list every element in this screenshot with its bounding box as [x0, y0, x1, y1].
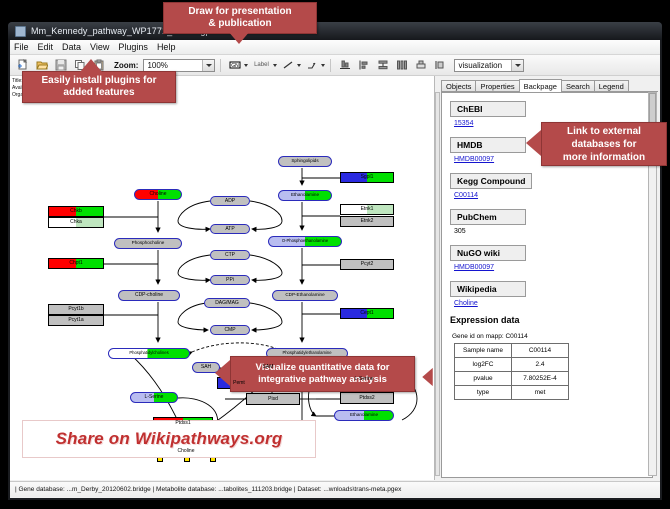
tab-search[interactable]: Search — [561, 80, 595, 91]
menu-data[interactable]: Data — [62, 42, 81, 52]
node-label: SAH — [201, 365, 211, 370]
tab-properties[interactable]: Properties — [475, 80, 519, 91]
visualization-value: visualization — [458, 61, 502, 70]
interaction-dropdown[interactable] — [303, 57, 325, 74]
visualization-combobox[interactable]: visualization — [454, 59, 524, 72]
callout-plugins-line2: added features — [41, 87, 156, 99]
node-label: SAM — [263, 365, 274, 370]
callout-draw-line1: Draw for presentation — [188, 6, 291, 18]
expr-value-type: met — [512, 386, 569, 400]
zoom-combobox[interactable]: 100% — [143, 59, 215, 72]
db-link-kegg[interactable]: C00114 — [454, 192, 652, 199]
node-label: ADP — [225, 199, 235, 204]
metabolite-node-phosphatidylcholines[interactable]: Phosphatidylcholines — [108, 348, 190, 359]
menu-view[interactable]: View — [90, 42, 109, 52]
table-row: pvalue 7.80252E-4 — [455, 372, 569, 386]
app-icon — [15, 26, 26, 37]
node-label: Etnk1 — [361, 207, 374, 212]
screenshot-root: Mm_Kennedy_pathway_WP1771_45176.gpml Fil… — [0, 0, 670, 509]
node-label: CTP — [225, 253, 235, 258]
menu-help[interactable]: Help — [157, 42, 176, 52]
callout-plugins-arrow — [80, 59, 102, 72]
distribute-horizontal-icon[interactable] — [393, 57, 410, 74]
chevron-down-icon[interactable] — [244, 64, 248, 67]
node-label: O-Phosphoethanolamine — [282, 239, 328, 243]
db-link-wikipedia[interactable]: Choline — [454, 300, 652, 307]
gene-node-etnk1[interactable]: Etnk1 — [340, 204, 394, 215]
label-dropdown[interactable]: Label — [250, 57, 277, 74]
node-label: Phosphocholine — [132, 241, 165, 246]
callout-links-line1: Link to external — [563, 125, 645, 138]
node-label: Pcyt1b — [68, 307, 83, 312]
status-text: | Gene database: ...m_Derby_20120602.bri… — [15, 486, 401, 493]
node-label: Etnk2 — [361, 219, 374, 224]
node-label: Pcyt1a — [68, 318, 83, 323]
node-label: Phosphatidylethanolamine — [282, 351, 331, 355]
expr-label-sample: Sample name — [455, 344, 512, 358]
align-left-icon[interactable] — [355, 57, 372, 74]
expr-value-sample: C00114 — [512, 344, 569, 358]
callout-draw-line2: & publication — [188, 18, 291, 30]
node-label: Sphingolipids — [291, 159, 318, 164]
gene-node-chpt1[interactable]: Chpt1 — [48, 258, 104, 269]
gene-node-etnk2[interactable]: Etnk2 — [340, 216, 394, 227]
table-row: type met — [455, 386, 569, 400]
gene-node-ptdss2[interactable]: Ptdss2 — [340, 392, 394, 404]
callout-visualize-line1: Visualize quantitative data for — [256, 362, 390, 374]
label-icon[interactable]: Label — [250, 57, 272, 74]
node-label: ATP — [225, 227, 234, 232]
menu-file[interactable]: File — [14, 42, 29, 52]
metabolite-node-choline[interactable]: Choline — [134, 189, 182, 200]
menu-edit[interactable]: Edit — [38, 42, 54, 52]
node-label: Phosphatidylcholines — [129, 351, 168, 355]
tab-objects[interactable]: Objects — [441, 80, 476, 91]
node-label: Choline — [178, 449, 195, 454]
gene-node-chka[interactable]: Chka — [48, 217, 104, 228]
order-icon[interactable] — [431, 57, 448, 74]
callout-links-line2: databases for — [563, 138, 645, 151]
tab-legend[interactable]: Legend — [594, 80, 629, 91]
metabolite-node-ctp[interactable]: CTP — [210, 250, 250, 260]
status-bar: | Gene database: ...m_Derby_20120602.bri… — [10, 481, 660, 497]
node-label: Pisd — [268, 397, 278, 402]
db-header-chebi: ChEBI — [450, 101, 526, 117]
node-label: L-Serine — [145, 395, 164, 400]
toolbar-separator — [330, 59, 331, 72]
node-label: Pcyt2 — [361, 262, 374, 267]
metabolite-node-o-phosphoethanolamine[interactable]: O-Phosphoethanolamine — [268, 236, 342, 247]
svg-text:GN: GN — [231, 63, 239, 69]
callout-draw: Draw for presentation & publication — [163, 2, 317, 34]
zoom-value: 100% — [147, 61, 167, 70]
metabolite-node-ethanolamine[interactable]: Ethanolamine — [334, 410, 394, 421]
db-header-pubchem: PubChem — [450, 209, 526, 225]
node-label: Chpt1 — [69, 261, 82, 266]
gene-node-pcyt2[interactable]: Pcyt2 — [340, 259, 394, 270]
expression-table: Sample name C00114 log2FC 2.4 pvalue 7.8… — [454, 343, 569, 400]
title-bar: Mm_Kennedy_pathway_WP1771_45176.gpml — [8, 22, 662, 40]
callout-plugins: Easily install plugins for added feature… — [22, 71, 176, 103]
callout-links-line3: more information — [563, 151, 645, 164]
table-row: Sample name C00114 — [455, 344, 569, 358]
gene-node-sgpl1[interactable]: Sgpl1 — [340, 172, 394, 183]
node-label: Chkb — [70, 209, 82, 214]
callout-links: Link to external databases for more info… — [541, 122, 667, 166]
metabolite-node-phosphocholine[interactable]: Phosphocholine — [114, 238, 182, 249]
metabolite-node-l-serine[interactable]: L-Serine — [130, 392, 178, 403]
node-label: Ptdss1 — [175, 421, 190, 426]
gene-node-chkb[interactable]: Chkb — [48, 206, 104, 217]
menu-plugins[interactable]: Plugins — [118, 42, 148, 52]
node-label: Ethanolamine — [350, 413, 378, 418]
chevron-down-icon[interactable] — [202, 60, 214, 71]
metabolite-node-ppi[interactable]: PPi — [210, 275, 250, 285]
node-label: Ptdss2 — [359, 396, 374, 401]
group-icon[interactable] — [412, 57, 429, 74]
metabolite-node-cdp-choline[interactable]: CDP-choline — [118, 290, 180, 301]
gene-node-pcyt1b[interactable]: Pcyt1b — [48, 304, 104, 315]
node-label: Choline — [150, 192, 167, 197]
db-header-nugo: NuGO wiki — [450, 245, 526, 261]
chevron-down-icon[interactable] — [273, 64, 277, 67]
callout-visualize-arrow — [215, 360, 230, 386]
line-icon[interactable] — [279, 57, 296, 74]
callout-share-text: Share on Wikipathways.org — [56, 429, 283, 449]
db-header-wikipedia: Wikipedia — [450, 281, 526, 297]
stack-vertical-icon[interactable] — [374, 57, 391, 74]
metabolite-node-ethanolamine[interactable]: Ethanolamine — [278, 190, 332, 201]
zoom-label: Zoom: — [114, 61, 138, 70]
callout-draw-arrow — [228, 31, 250, 44]
chevron-down-icon[interactable] — [321, 64, 325, 67]
gene-node-pisd[interactable]: Pisd — [246, 393, 300, 405]
callout-links-arrow — [526, 130, 541, 156]
side-panel-tabs: Objects Properties Backpage Search Legen… — [441, 78, 658, 92]
db-value-pubchem: 305 — [454, 228, 652, 235]
chevron-down-icon[interactable] — [297, 64, 301, 67]
metabolite-node-cdp-ethanolamine[interactable]: CDP-Ethanolamine — [272, 290, 338, 301]
metabolite-node-adp[interactable]: ADP — [210, 196, 250, 206]
db-header-hmdb: HMDB — [450, 137, 526, 153]
menu-bar: File Edit Data View Plugins Help — [10, 40, 660, 55]
expr-label-type: type — [455, 386, 512, 400]
metabolite-node-sphingolipids[interactable]: Sphingolipids — [278, 156, 332, 167]
line-dropdown[interactable] — [279, 57, 301, 74]
callout-plugins-line1: Easily install plugins for — [41, 75, 156, 87]
datanode-icon[interactable]: GN — [226, 57, 243, 74]
expr-label-log2fc: log2FC — [455, 358, 512, 372]
callout-share: Share on Wikipathways.org — [22, 420, 316, 458]
gene-id-on-mapp: Gene id on mapp: C00114 — [452, 333, 652, 340]
panel-left-gutter — [435, 92, 440, 476]
datanode-dropdown[interactable]: GN — [226, 57, 248, 74]
metabolite-node-atp[interactable]: ATP — [210, 224, 250, 234]
node-label: CMP — [224, 328, 235, 333]
toolbar-separator — [220, 59, 221, 72]
node-label: Pemt — [233, 381, 245, 386]
expr-label-pvalue: pvalue — [455, 372, 512, 386]
db-link-nugo[interactable]: HMDB00097 — [454, 264, 652, 271]
node-label: Cept1 — [360, 311, 373, 316]
table-row: log2FC 2.4 — [455, 358, 569, 372]
expr-value-log2fc: 2.4 — [512, 358, 569, 372]
expression-data-heading: Expression data — [450, 315, 652, 325]
db-header-kegg: Kegg Compound — [450, 173, 532, 189]
align-bottom-icon[interactable] — [336, 57, 353, 74]
tab-backpage[interactable]: Backpage — [519, 79, 562, 92]
node-label: CDP-Ethanolamine — [285, 293, 324, 298]
node-label: PPi — [226, 278, 234, 283]
metabolite-node-dag-mag[interactable]: DAG/MAG — [204, 298, 250, 308]
node-label: Chka — [70, 220, 82, 225]
node-label: L-Serine — [355, 377, 374, 382]
node-label: Ethanolamine — [291, 193, 319, 198]
node-label: DAG/MAG — [215, 301, 239, 306]
gene-node-cept1[interactable]: Cept1 — [340, 308, 394, 319]
metabolite-node-cmp[interactable]: CMP — [210, 325, 250, 335]
chevron-down-icon[interactable] — [511, 60, 523, 71]
gene-node-pcyt1a[interactable]: Pcyt1a — [48, 315, 104, 326]
node-label: Sgpl1 — [361, 175, 374, 180]
node-label: CDP-choline — [135, 293, 163, 298]
callout-expression-arrow — [422, 368, 433, 386]
expr-value-pvalue: 7.80252E-4 — [512, 372, 569, 386]
interaction-icon[interactable] — [303, 57, 320, 74]
callout-visualize: Visualize quantitative data for integrat… — [230, 356, 415, 392]
